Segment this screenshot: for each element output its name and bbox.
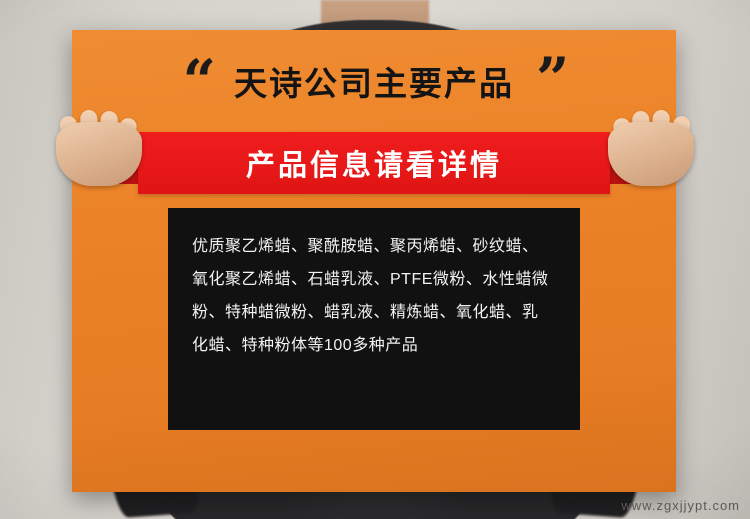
palm	[56, 122, 142, 186]
headline-row: “ 天诗公司主要产品 ”	[72, 52, 676, 110]
page-title: 天诗公司主要产品	[234, 57, 514, 105]
quote-open-icon: “	[183, 52, 212, 110]
palm	[608, 122, 694, 186]
quote-close-icon: ”	[536, 50, 565, 108]
product-line-3: 粉、特种蜡微粉、蜡乳液、精炼蜡、氧化蜡、乳	[192, 296, 556, 329]
orange-presentation-board: “ 天诗公司主要产品 ” 产品信息请看详情 优质聚乙烯蜡、聚酰胺蜡、聚丙烯蜡、砂…	[72, 30, 676, 492]
product-line-2: 氧化聚乙烯蜡、石蜡乳液、PTFE微粉、水性蜡微	[192, 263, 556, 296]
hand-right	[608, 96, 694, 188]
product-line-4: 化蜡、特种粉体等100多种产品	[192, 329, 556, 362]
product-list-panel: 优质聚乙烯蜡、聚酰胺蜡、聚丙烯蜡、砂纹蜡、 氧化聚乙烯蜡、石蜡乳液、PTFE微粉…	[168, 208, 580, 430]
red-ribbon-banner: 产品信息请看详情	[94, 132, 654, 194]
hand-left	[56, 96, 142, 188]
ribbon-label: 产品信息请看详情	[246, 142, 502, 184]
ribbon-body: 产品信息请看详情	[138, 132, 610, 194]
promo-image-scene: “ 天诗公司主要产品 ” 产品信息请看详情 优质聚乙烯蜡、聚酰胺蜡、聚丙烯蜡、砂…	[0, 0, 750, 519]
product-line-1: 优质聚乙烯蜡、聚酰胺蜡、聚丙烯蜡、砂纹蜡、	[192, 230, 556, 263]
watermark-url: www.zgxjjypt.com	[621, 498, 740, 513]
